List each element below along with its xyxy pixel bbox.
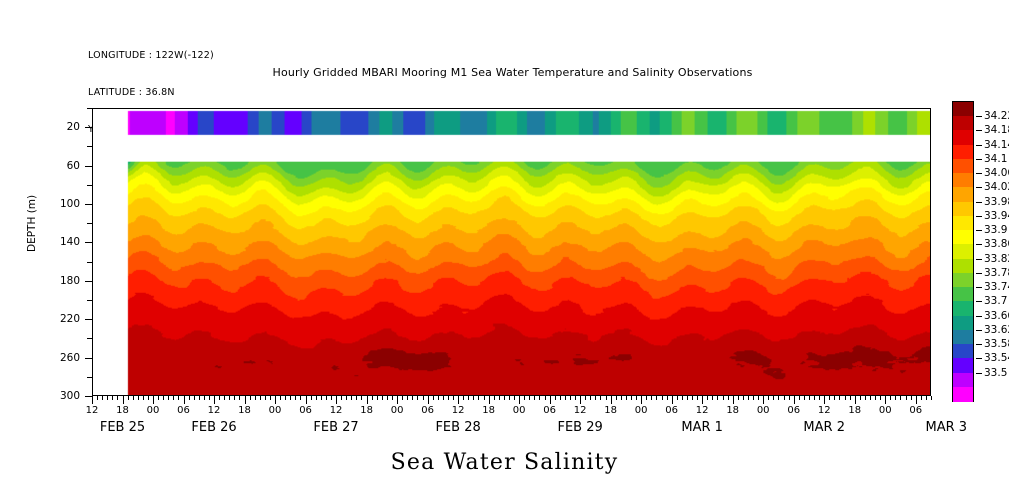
x-tick-label: 12 bbox=[452, 405, 465, 416]
x-tick-minor bbox=[773, 396, 774, 400]
x-tick-label: 00 bbox=[757, 405, 770, 416]
x-tick-major bbox=[519, 396, 520, 404]
colorbar-band bbox=[953, 287, 973, 302]
x-tick-label: 06 bbox=[543, 405, 556, 416]
x-tick-minor bbox=[280, 396, 281, 400]
colorbar-tick-label: 34.1 bbox=[984, 153, 1007, 165]
colorbar-tick-label: 33.66 bbox=[984, 310, 1009, 322]
x-tick-major bbox=[214, 396, 215, 404]
x-tick-label: 18 bbox=[482, 405, 495, 416]
x-tick-minor bbox=[753, 396, 754, 400]
x-day-label: FEB 26 bbox=[191, 420, 236, 435]
x-tick-minor bbox=[621, 396, 622, 400]
x-tick-minor bbox=[600, 396, 601, 400]
x-tick-minor bbox=[265, 396, 266, 400]
x-tick-major bbox=[306, 396, 307, 404]
x-tick-minor bbox=[575, 396, 576, 400]
x-tick-minor bbox=[433, 396, 434, 400]
x-tick-minor bbox=[290, 396, 291, 400]
y-tick-minor bbox=[87, 338, 92, 339]
x-tick-minor bbox=[784, 396, 785, 400]
x-day-label: FEB 29 bbox=[557, 420, 602, 435]
x-axis: 1218000612180006121800061218000612180006… bbox=[92, 396, 931, 444]
x-tick-minor bbox=[809, 396, 810, 400]
colorbar-band bbox=[953, 216, 973, 231]
x-tick-minor bbox=[219, 396, 220, 400]
x-tick-minor bbox=[626, 396, 627, 400]
colorbar-tick bbox=[976, 187, 982, 188]
x-tick-minor bbox=[204, 396, 205, 400]
x-tick-minor bbox=[890, 396, 891, 400]
x-tick-label: 18 bbox=[360, 405, 373, 416]
x-tick-major bbox=[885, 396, 886, 404]
x-tick-label: 06 bbox=[665, 405, 678, 416]
x-tick-minor bbox=[539, 396, 540, 400]
x-tick-minor bbox=[178, 396, 179, 400]
x-day-label: FEB 27 bbox=[313, 420, 358, 435]
x-tick-minor bbox=[687, 396, 688, 400]
x-tick-major bbox=[824, 396, 825, 404]
colorbar-tick-label: 34.14 bbox=[984, 139, 1009, 151]
x-tick-minor bbox=[789, 396, 790, 400]
x-tick-minor bbox=[814, 396, 815, 400]
x-tick-minor bbox=[473, 396, 474, 400]
x-tick-major bbox=[92, 396, 93, 404]
y-tick-minor bbox=[87, 223, 92, 224]
x-tick-label: 12 bbox=[86, 405, 99, 416]
x-tick-minor bbox=[189, 396, 190, 400]
x-tick-major bbox=[458, 396, 459, 404]
y-tick-major bbox=[85, 396, 92, 397]
colorbar-band bbox=[953, 116, 973, 131]
x-tick-minor bbox=[682, 396, 683, 400]
x-tick-label: 00 bbox=[879, 405, 892, 416]
y-tick-major bbox=[85, 319, 92, 320]
x-tick-major bbox=[275, 396, 276, 404]
colorbar-tick bbox=[976, 259, 982, 260]
colorbar-tick bbox=[976, 273, 982, 274]
x-tick-minor bbox=[697, 396, 698, 400]
x-tick-minor bbox=[311, 396, 312, 400]
colorbar-tick bbox=[976, 202, 982, 203]
x-day-label: MAR 2 bbox=[803, 420, 845, 435]
x-tick-minor bbox=[865, 396, 866, 400]
x-tick-minor bbox=[300, 396, 301, 400]
colorbar-band bbox=[953, 230, 973, 245]
colorbar-band bbox=[953, 358, 973, 373]
x-tick-minor bbox=[606, 396, 607, 400]
x-tick-minor bbox=[662, 396, 663, 400]
colorbar-band bbox=[953, 145, 973, 160]
x-tick-major bbox=[611, 396, 612, 404]
x-tick-label: 18 bbox=[848, 405, 861, 416]
x-tick-minor bbox=[758, 396, 759, 400]
x-tick-minor bbox=[616, 396, 617, 400]
x-tick-minor bbox=[499, 396, 500, 400]
x-tick-minor bbox=[321, 396, 322, 400]
y-tick-minor bbox=[87, 262, 92, 263]
colorbar-tick-label: 34.06 bbox=[984, 167, 1009, 179]
colorbar-tick bbox=[976, 216, 982, 217]
colorbar-tick bbox=[976, 373, 982, 374]
x-tick-major bbox=[794, 396, 795, 404]
x-tick-major bbox=[733, 396, 734, 404]
x-tick-major bbox=[672, 396, 673, 404]
x-tick-minor bbox=[926, 396, 927, 400]
x-tick-major bbox=[184, 396, 185, 404]
x-tick-minor bbox=[570, 396, 571, 400]
x-tick-minor bbox=[860, 396, 861, 400]
x-tick-major bbox=[245, 396, 246, 404]
colorbar-band bbox=[953, 316, 973, 331]
x-tick-label: 00 bbox=[391, 405, 404, 416]
colorbar-tick bbox=[976, 159, 982, 160]
x-tick-minor bbox=[875, 396, 876, 400]
x-tick-minor bbox=[361, 396, 362, 400]
x-tick-major bbox=[336, 396, 337, 404]
colorbar-tick-label: 34.22 bbox=[984, 110, 1009, 122]
x-tick-minor bbox=[356, 396, 357, 400]
x-tick-minor bbox=[372, 396, 373, 400]
x-tick-minor bbox=[173, 396, 174, 400]
x-tick-minor bbox=[107, 396, 108, 400]
colorbar-band bbox=[953, 202, 973, 217]
colorbar-tick bbox=[976, 230, 982, 231]
x-tick-minor bbox=[839, 396, 840, 400]
x-tick-minor bbox=[260, 396, 261, 400]
y-tick-major bbox=[85, 358, 92, 359]
x-tick-minor bbox=[407, 396, 408, 400]
colorbar-tick bbox=[976, 173, 982, 174]
x-tick-minor bbox=[768, 396, 769, 400]
x-tick-label: 06 bbox=[421, 405, 434, 416]
colorbar-tick bbox=[976, 145, 982, 146]
colorbar-tick-label: 33.94 bbox=[984, 210, 1009, 222]
colorbar-tick bbox=[976, 287, 982, 288]
x-tick-minor bbox=[194, 396, 195, 400]
x-tick-minor bbox=[351, 396, 352, 400]
x-tick-minor bbox=[738, 396, 739, 400]
x-tick-label: 18 bbox=[726, 405, 739, 416]
x-tick-minor bbox=[560, 396, 561, 400]
x-tick-minor bbox=[743, 396, 744, 400]
salinity-heatmap bbox=[93, 109, 930, 395]
x-day-label: MAR 3 bbox=[925, 420, 967, 435]
x-tick-minor bbox=[229, 396, 230, 400]
y-tick-major bbox=[85, 204, 92, 205]
x-tick-minor bbox=[524, 396, 525, 400]
y-tick-label: 260 bbox=[60, 352, 80, 364]
colorbar-tick-label: 33.58 bbox=[984, 338, 1009, 350]
colorbar-tick-label: 33.74 bbox=[984, 281, 1009, 293]
x-tick-minor bbox=[102, 396, 103, 400]
x-tick-minor bbox=[870, 396, 871, 400]
colorbar bbox=[952, 101, 974, 402]
x-tick-minor bbox=[133, 396, 134, 400]
x-tick-minor bbox=[417, 396, 418, 400]
x-tick-minor bbox=[712, 396, 713, 400]
x-tick-minor bbox=[224, 396, 225, 400]
x-tick-minor bbox=[799, 396, 800, 400]
x-tick-major bbox=[580, 396, 581, 404]
x-tick-minor bbox=[804, 396, 805, 400]
colorbar-band bbox=[953, 301, 973, 316]
x-tick-label: 12 bbox=[574, 405, 587, 416]
x-tick-minor bbox=[636, 396, 637, 400]
y-tick-major bbox=[85, 242, 92, 243]
x-tick-label: 12 bbox=[696, 405, 709, 416]
colorbar-tick-label: 33.62 bbox=[984, 324, 1009, 336]
x-tick-minor bbox=[931, 396, 932, 400]
x-tick-minor bbox=[285, 396, 286, 400]
x-tick-label: 00 bbox=[269, 405, 282, 416]
x-tick-minor bbox=[387, 396, 388, 400]
x-tick-minor bbox=[148, 396, 149, 400]
x-day-label: MAR 1 bbox=[681, 420, 723, 435]
chart-title-text: Hourly Gridded MBARI Mooring M1 Sea Wate… bbox=[273, 66, 753, 79]
x-tick-minor bbox=[443, 396, 444, 400]
x-tick-major bbox=[428, 396, 429, 404]
x-tick-minor bbox=[906, 396, 907, 400]
x-tick-label: 00 bbox=[513, 405, 526, 416]
colorbar-tick bbox=[976, 116, 982, 117]
x-tick-minor bbox=[707, 396, 708, 400]
colorbar-tick-label: 34.18 bbox=[984, 124, 1009, 136]
x-tick-label: 06 bbox=[787, 405, 800, 416]
x-tick-major bbox=[855, 396, 856, 404]
x-tick-minor bbox=[656, 396, 657, 400]
colorbar-tick-label: 34.02 bbox=[984, 181, 1009, 193]
colorbar-tick bbox=[976, 130, 982, 131]
latitude-text: LATITUDE : 36.8N bbox=[88, 87, 214, 99]
x-tick-minor bbox=[484, 396, 485, 400]
y-tick-minor bbox=[87, 185, 92, 186]
x-tick-minor bbox=[316, 396, 317, 400]
x-tick-minor bbox=[529, 396, 530, 400]
x-tick-minor bbox=[631, 396, 632, 400]
colorbar-tick bbox=[976, 330, 982, 331]
x-tick-minor bbox=[478, 396, 479, 400]
x-tick-major bbox=[367, 396, 368, 404]
colorbar-band bbox=[953, 102, 973, 117]
y-tick-minor bbox=[87, 300, 92, 301]
colorbar-band bbox=[953, 259, 973, 274]
x-tick-minor bbox=[346, 396, 347, 400]
x-tick-minor bbox=[514, 396, 515, 400]
x-tick-minor bbox=[595, 396, 596, 400]
x-tick-label: 18 bbox=[238, 405, 251, 416]
y-tick-label: 180 bbox=[60, 275, 80, 287]
x-tick-minor bbox=[331, 396, 332, 400]
x-tick-label: 18 bbox=[116, 405, 129, 416]
colorbar-tick bbox=[976, 344, 982, 345]
x-tick-minor bbox=[199, 396, 200, 400]
y-tick-label: 100 bbox=[60, 198, 80, 210]
x-tick-minor bbox=[845, 396, 846, 400]
y-tick-label: 300 bbox=[60, 390, 80, 402]
colorbar-tick-label: 33.9 bbox=[984, 224, 1007, 236]
x-tick-minor bbox=[270, 396, 271, 400]
x-tick-minor bbox=[646, 396, 647, 400]
y-tick-minor bbox=[87, 146, 92, 147]
x-day-label: FEB 28 bbox=[435, 420, 480, 435]
y-tick-minor bbox=[87, 377, 92, 378]
colorbar-tick bbox=[976, 301, 982, 302]
x-tick-minor bbox=[692, 396, 693, 400]
x-tick-minor bbox=[412, 396, 413, 400]
colorbar-tick-label: 33.7 bbox=[984, 295, 1007, 307]
colorbar-band bbox=[953, 244, 973, 259]
colorbar-band bbox=[953, 159, 973, 174]
y-tick-major bbox=[85, 127, 92, 128]
colorbar-band bbox=[953, 330, 973, 345]
y-tick-label: 220 bbox=[60, 313, 80, 325]
x-tick-minor bbox=[834, 396, 835, 400]
x-tick-minor bbox=[850, 396, 851, 400]
x-tick-label: 06 bbox=[177, 405, 190, 416]
x-tick-minor bbox=[895, 396, 896, 400]
y-tick-label: 60 bbox=[67, 160, 80, 172]
x-tick-minor bbox=[138, 396, 139, 400]
x-tick-major bbox=[550, 396, 551, 404]
x-tick-label: 00 bbox=[635, 405, 648, 416]
colorbar-tick-label: 33.98 bbox=[984, 196, 1009, 208]
colorbar-band bbox=[953, 387, 973, 402]
x-tick-minor bbox=[158, 396, 159, 400]
colorbar-tick-label: 33.86 bbox=[984, 238, 1009, 250]
x-tick-minor bbox=[555, 396, 556, 400]
x-tick-minor bbox=[463, 396, 464, 400]
x-tick-major bbox=[916, 396, 917, 404]
x-tick-minor bbox=[717, 396, 718, 400]
x-tick-label: 12 bbox=[208, 405, 221, 416]
x-tick-major bbox=[153, 396, 154, 404]
x-tick-minor bbox=[829, 396, 830, 400]
x-tick-minor bbox=[819, 396, 820, 400]
x-tick-minor bbox=[494, 396, 495, 400]
x-tick-major bbox=[702, 396, 703, 404]
x-tick-minor bbox=[402, 396, 403, 400]
x-tick-minor bbox=[590, 396, 591, 400]
x-tick-minor bbox=[911, 396, 912, 400]
x-tick-minor bbox=[377, 396, 378, 400]
x-tick-minor bbox=[117, 396, 118, 400]
x-tick-minor bbox=[143, 396, 144, 400]
x-tick-major bbox=[123, 396, 124, 404]
x-tick-minor bbox=[651, 396, 652, 400]
x-tick-minor bbox=[112, 396, 113, 400]
x-tick-minor bbox=[234, 396, 235, 400]
variable-title: Sea Water Salinity bbox=[0, 450, 1009, 475]
x-tick-minor bbox=[677, 396, 678, 400]
colorbar-tick bbox=[976, 358, 982, 359]
x-tick-minor bbox=[295, 396, 296, 400]
x-tick-major bbox=[763, 396, 764, 404]
x-tick-label: 12 bbox=[330, 405, 343, 416]
plot-area bbox=[92, 108, 931, 396]
colorbar-band bbox=[953, 187, 973, 202]
x-tick-minor bbox=[504, 396, 505, 400]
x-tick-minor bbox=[341, 396, 342, 400]
x-tick-minor bbox=[468, 396, 469, 400]
x-tick-minor bbox=[255, 396, 256, 400]
y-tick-label: 140 bbox=[60, 236, 80, 248]
y-tick-major bbox=[85, 281, 92, 282]
x-tick-minor bbox=[250, 396, 251, 400]
colorbar-tick-label: 33.54 bbox=[984, 352, 1009, 364]
x-tick-minor bbox=[448, 396, 449, 400]
x-tick-major bbox=[489, 396, 490, 404]
y-tick-major bbox=[85, 166, 92, 167]
colorbar-tick-label: 33.78 bbox=[984, 267, 1009, 279]
x-tick-minor bbox=[509, 396, 510, 400]
x-tick-minor bbox=[326, 396, 327, 400]
x-tick-minor bbox=[723, 396, 724, 400]
x-tick-minor bbox=[565, 396, 566, 400]
x-tick-label: 00 bbox=[147, 405, 160, 416]
colorbar-tick bbox=[976, 316, 982, 317]
colorbar-band bbox=[953, 130, 973, 145]
x-tick-minor bbox=[163, 396, 164, 400]
x-tick-label: 18 bbox=[604, 405, 617, 416]
y-axis: 2060100140180220260300 bbox=[0, 108, 92, 396]
colorbar-tick bbox=[976, 244, 982, 245]
x-tick-minor bbox=[209, 396, 210, 400]
x-tick-minor bbox=[534, 396, 535, 400]
x-tick-label: 12 bbox=[818, 405, 831, 416]
colorbar-band bbox=[953, 373, 973, 388]
x-tick-label: 06 bbox=[909, 405, 922, 416]
x-tick-minor bbox=[585, 396, 586, 400]
x-tick-label: 06 bbox=[299, 405, 312, 416]
colorbar-band bbox=[953, 273, 973, 288]
x-day-label: FEB 25 bbox=[100, 420, 145, 435]
x-tick-minor bbox=[128, 396, 129, 400]
x-tick-minor bbox=[778, 396, 779, 400]
colorbar-band bbox=[953, 173, 973, 188]
colorbar-band bbox=[953, 344, 973, 359]
x-tick-minor bbox=[900, 396, 901, 400]
y-axis-label: DEPTH (m) bbox=[26, 195, 38, 252]
x-tick-minor bbox=[239, 396, 240, 400]
chart-title: Hourly Gridded MBARI Mooring M1 Sea Wate… bbox=[0, 66, 1009, 79]
x-tick-minor bbox=[438, 396, 439, 400]
x-tick-minor bbox=[748, 396, 749, 400]
x-tick-minor bbox=[97, 396, 98, 400]
x-tick-minor bbox=[880, 396, 881, 400]
colorbar-tick-label: 33.82 bbox=[984, 253, 1009, 265]
x-tick-major bbox=[397, 396, 398, 404]
x-tick-minor bbox=[728, 396, 729, 400]
x-tick-minor bbox=[392, 396, 393, 400]
x-tick-major bbox=[641, 396, 642, 404]
x-tick-minor bbox=[667, 396, 668, 400]
x-tick-minor bbox=[921, 396, 922, 400]
x-tick-minor bbox=[168, 396, 169, 400]
x-tick-minor bbox=[545, 396, 546, 400]
colorbar-tick-label: 33.5 bbox=[984, 367, 1007, 379]
y-tick-label: 20 bbox=[67, 121, 80, 133]
longitude-text: LONGITUDE : 122W(-122) bbox=[88, 50, 214, 62]
x-tick-minor bbox=[453, 396, 454, 400]
y-tick-minor bbox=[87, 108, 92, 109]
x-tick-minor bbox=[382, 396, 383, 400]
x-tick-minor bbox=[423, 396, 424, 400]
